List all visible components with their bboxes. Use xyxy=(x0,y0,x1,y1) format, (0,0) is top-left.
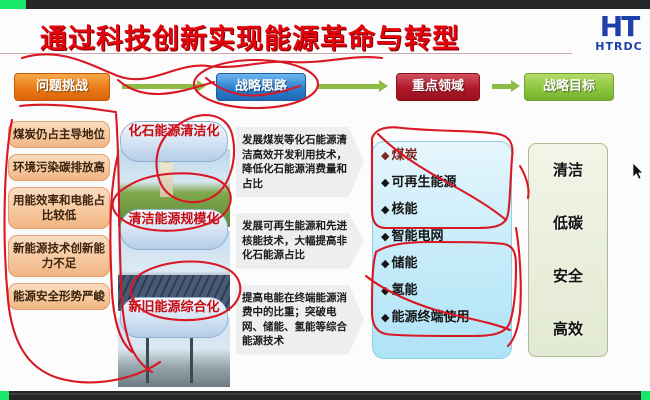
problem-item: 能源安全形势严峻 xyxy=(8,283,110,310)
problem-item: 环境污染碳排放高 xyxy=(8,154,110,181)
arrow-icon-1 xyxy=(122,84,198,89)
header-strategy-goals: 战略目标 xyxy=(524,73,614,101)
page-title: 通过科技创新实现能源革命与转型 xyxy=(40,17,520,56)
key-area-item: ◆能源终端使用 xyxy=(373,304,511,331)
video-player-screen: 通过科技创新实现能源革命与转型 HT HTRDC 问题挑战 战略思路 重点领域 … xyxy=(0,0,650,400)
key-area-item: ◆可再生能源 xyxy=(373,169,511,196)
diamond-bullet-icon: ◆ xyxy=(381,230,389,243)
description-item: 提高电能在终端能源消费中的比重；突破电网、储能、氢能等综合能源技术 xyxy=(236,285,364,355)
description-item: 发展可再生能源和先进核能技术，大幅提高非化石能源占比 xyxy=(236,213,364,269)
key-area-item: ◆氢能 xyxy=(373,277,511,304)
header-problem-challenge: 问题挑战 xyxy=(14,73,110,101)
problems-column: 煤炭仍占主导地位 环境污染碳排放高 用能效率和电能占比较低 新能源技术创新能力不… xyxy=(8,121,110,316)
key-area-item: ◆储能 xyxy=(373,250,511,277)
strategy-item: 化石能源清洁化 xyxy=(120,121,228,162)
strategy-item: 新旧能源综合化 xyxy=(120,297,228,338)
goal-item: 清洁 xyxy=(529,144,607,197)
player-top-bar xyxy=(0,0,650,9)
header-key-areas: 重点领域 xyxy=(396,73,480,101)
progress-segment[interactable] xyxy=(0,0,26,9)
descriptions-column: 发展煤炭等化石能源清洁高效开发利用技术，降低化石能源消费量和占比 发展可再生能源… xyxy=(236,127,364,371)
mouse-cursor xyxy=(633,163,645,181)
diamond-bullet-icon: ◆ xyxy=(381,257,389,270)
logo-mark: HT xyxy=(582,13,650,41)
progress-segment-right[interactable] xyxy=(641,391,650,400)
key-areas-panel: ◆煤炭 ◆可再生能源 ◆核能 ◆智能电网 ◆储能 ◆氢能 ◆能源终端使用 xyxy=(372,141,512,359)
diamond-bullet-icon: ◆ xyxy=(381,176,389,189)
player-bottom-bar xyxy=(0,391,650,400)
arrow-icon-2 xyxy=(318,84,380,89)
problem-item: 用能效率和电能占比较低 xyxy=(8,187,110,229)
company-logo: HT HTRDC xyxy=(582,13,650,59)
diamond-bullet-icon: ◆ xyxy=(381,149,389,162)
title-divider xyxy=(0,53,572,54)
goal-item: 高效 xyxy=(529,303,607,356)
header-strategy-approach: 战略思路 xyxy=(216,73,306,101)
progress-track[interactable] xyxy=(9,393,641,395)
key-area-item: ◆核能 xyxy=(373,196,511,223)
logo-wordmark: HTRDC xyxy=(582,41,650,53)
strategy-column: 化石能源清洁化 清洁能源规模化 新旧能源综合化 xyxy=(118,121,230,386)
presentation-slide: 通过科技创新实现能源革命与转型 HT HTRDC 问题挑战 战略思路 重点领域 … xyxy=(0,9,650,391)
arrow-icon-3 xyxy=(492,84,512,89)
diamond-bullet-icon: ◆ xyxy=(381,311,389,324)
diamond-bullet-icon: ◆ xyxy=(381,284,389,297)
goal-item: 低碳 xyxy=(529,197,607,250)
goals-panel: 清洁 低碳 安全 高效 xyxy=(528,143,608,357)
goal-item: 安全 xyxy=(529,250,607,303)
diamond-bullet-icon: ◆ xyxy=(381,203,389,216)
key-area-item: ◆煤炭 xyxy=(373,142,511,169)
description-item: 发展煤炭等化石能源清洁高效开发利用技术，降低化石能源消费量和占比 xyxy=(236,127,364,197)
progress-segment-left[interactable] xyxy=(0,391,9,400)
problem-item: 新能源技术创新能力不足 xyxy=(8,235,110,277)
problem-item: 煤炭仍占主导地位 xyxy=(8,121,110,148)
key-area-item: ◆智能电网 xyxy=(373,223,511,250)
strategy-item: 清洁能源规模化 xyxy=(120,209,228,250)
